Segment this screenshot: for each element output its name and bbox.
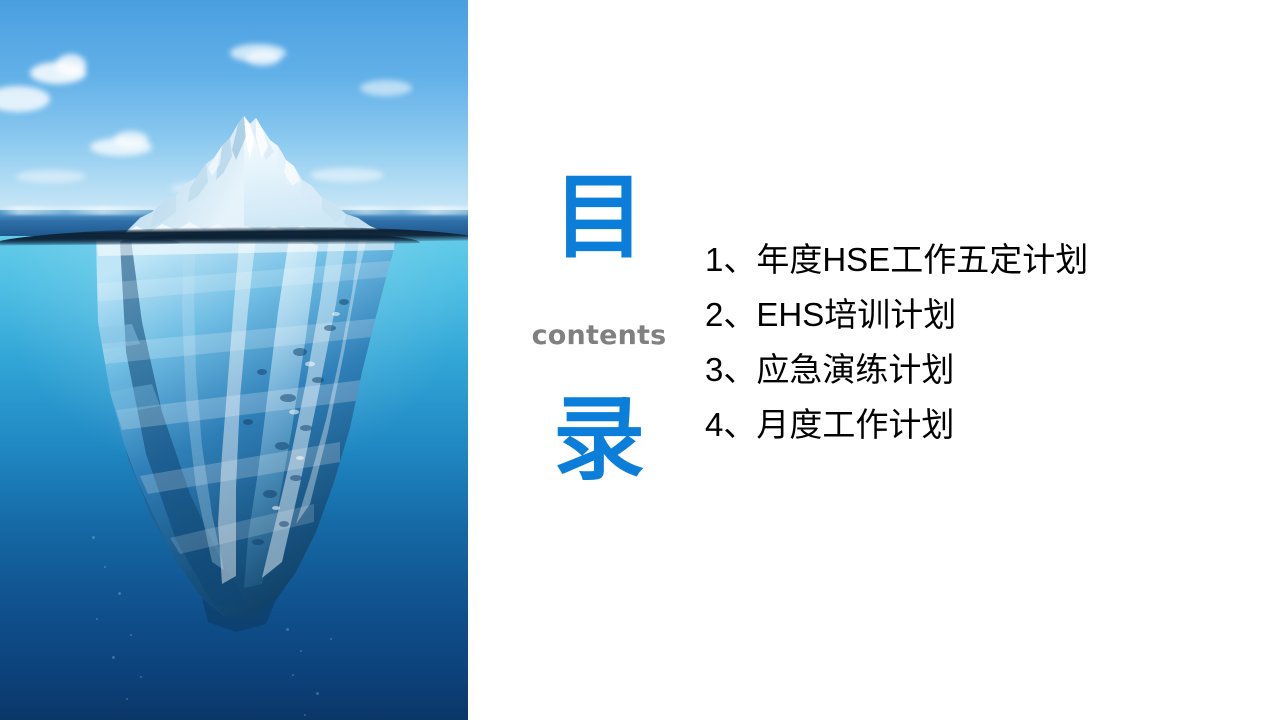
- toc-item[interactable]: 1、年度HSE工作五定计划: [705, 232, 1245, 287]
- contents-char-bottom: 录: [504, 394, 694, 486]
- bubble-specks: [0, 236, 468, 720]
- iceberg-photo: [0, 0, 468, 720]
- slide-root: 目 contents 录 1、年度HSE工作五定计划 2、EHS培训计划 3、应…: [0, 0, 1279, 720]
- waterline-band-left: [0, 236, 180, 245]
- iceberg-above-water: [0, 0, 468, 240]
- toc-item[interactable]: 3、应急演练计划: [705, 342, 1245, 397]
- toc-item[interactable]: 2、EHS培训计划: [705, 287, 1245, 342]
- toc-list: 1、年度HSE工作五定计划 2、EHS培训计划 3、应急演练计划 4、月度工作计…: [705, 232, 1245, 452]
- content-panel: 目 contents 录 1、年度HSE工作五定计划 2、EHS培训计划 3、应…: [468, 0, 1279, 720]
- contents-char-top: 目: [504, 172, 694, 264]
- contents-label: contents: [504, 320, 694, 351]
- toc-item[interactable]: 4、月度工作计划: [705, 397, 1245, 452]
